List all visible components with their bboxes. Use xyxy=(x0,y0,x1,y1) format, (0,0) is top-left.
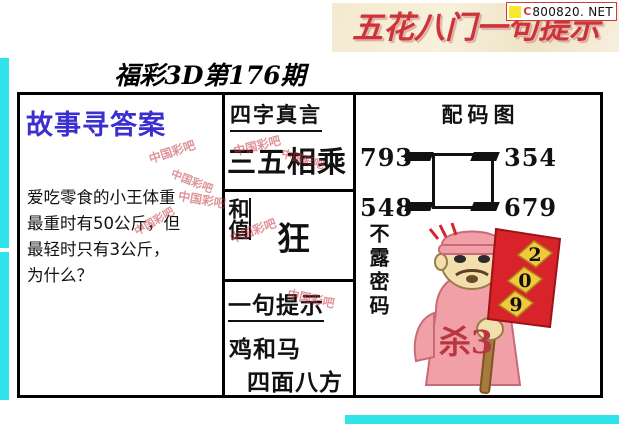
story-line: 为什么？ xyxy=(27,263,223,289)
oracle-column: 四字真言 三五相乘 中国彩吧 中国彩吧 和值 狂 中国彩吧 一句提示 鸡和马 四… xyxy=(225,95,356,395)
eye-left xyxy=(454,255,466,263)
banner-digit-1: 2 xyxy=(528,244,541,266)
hint-line-2: 四面八方 xyxy=(247,363,343,395)
copyright-icon: C xyxy=(523,5,531,18)
mouth xyxy=(466,275,478,283)
story-column: 故事寻答案 爱吃零食的小王体重 最重时有50公斤，但 最轻时只有3公斤， 为什么… xyxy=(20,95,225,395)
connector-dash-top-right xyxy=(470,152,500,161)
connector-dash-bottom-left xyxy=(404,202,434,211)
watermark-square-icon xyxy=(509,6,521,18)
one-line-hint-cell: 一句提示 鸡和马 四面八方 中国彩吧 xyxy=(225,282,353,395)
story-line: 最轻时只有3公斤， xyxy=(27,237,223,263)
connector-dash-top-left xyxy=(404,152,434,161)
sum-value-cell: 和值 狂 中国彩吧 xyxy=(225,192,353,282)
hint-line-1: 鸡和马 xyxy=(229,330,301,364)
connector-dash-bottom-right xyxy=(470,202,500,211)
story-line: 最重时有50公斤，但 xyxy=(27,211,223,237)
sum-value-label: 和值 xyxy=(228,198,251,240)
sum-value-char: 狂 xyxy=(277,212,310,260)
accent-bar-left-bottom xyxy=(0,252,9,400)
code-top-right: 354 xyxy=(504,143,557,172)
accent-bar-bottom xyxy=(345,415,619,424)
story-line: 爱吃零食的小王体重 xyxy=(27,185,223,211)
watermark-site-text: 800820. NET xyxy=(532,5,613,19)
main-table: 故事寻答案 爱吃零食的小王体重 最重时有50公斤，但 最轻时只有3公斤， 为什么… xyxy=(17,92,603,398)
page-title: 福彩3D第176期 xyxy=(0,56,420,92)
mascot-illustration: 2 0 9 杀3 xyxy=(408,215,588,395)
no-leak-code-text: 不露密码 xyxy=(364,223,391,319)
story-heading: 故事寻答案 xyxy=(26,103,166,142)
robe-kill-text: 杀3 xyxy=(439,323,493,361)
four-char-header: 四字真言 xyxy=(230,99,322,132)
four-char-cell: 四字真言 三五相乘 中国彩吧 中国彩吧 xyxy=(225,95,353,192)
code-map-column: 配码图 793 354 548 679 不露密码 xyxy=(356,95,600,395)
eye-right xyxy=(478,255,490,263)
code-map-box xyxy=(432,153,494,209)
code-map-diagram: 793 354 548 679 xyxy=(356,135,600,213)
story-text: 爱吃零食的小王体重 最重时有50公斤，但 最轻时只有3公斤， 为什么？ xyxy=(27,185,223,289)
banner-digit-3: 9 xyxy=(509,294,522,316)
ear-left xyxy=(435,254,447,270)
one-line-hint-header: 一句提示 xyxy=(228,286,324,322)
banner-digit-2: 0 xyxy=(518,270,531,292)
four-char-value: 三五相乘 xyxy=(227,139,347,181)
code-map-header: 配码图 xyxy=(356,99,600,129)
sleeve-left xyxy=(415,313,434,361)
watermark-badge: C 800820. NET xyxy=(506,2,617,21)
